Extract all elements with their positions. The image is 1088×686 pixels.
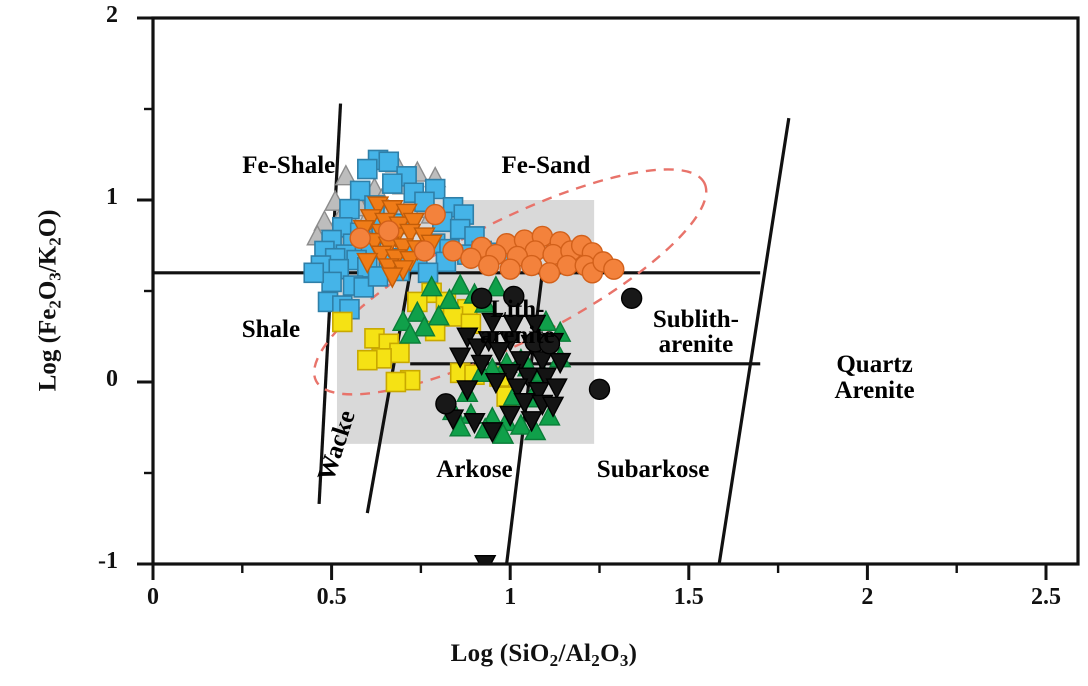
y-tick-label: 1 — [48, 184, 118, 211]
data-point — [443, 241, 463, 261]
data-point — [436, 394, 456, 414]
chart-canvas: Log (SiO2/Al2O3) Log (Fe2O3/K2O) 00.511.… — [0, 0, 1088, 686]
data-point — [322, 272, 341, 291]
y-tick-label: 0 — [48, 366, 118, 393]
data-point — [419, 263, 438, 282]
y-tick-label: -1 — [48, 548, 118, 575]
data-point — [461, 248, 481, 268]
data-point — [386, 373, 405, 392]
data-point — [590, 379, 610, 399]
x-tick-label: 2.5 — [1006, 584, 1086, 611]
field-label-fe-sand: Fe-Sand — [416, 153, 676, 179]
data-point — [604, 259, 624, 279]
y-tick-label: 2 — [48, 2, 118, 29]
data-point — [557, 256, 577, 276]
data-point — [414, 241, 434, 261]
field-label-quartz-arenite: Quartz Arenite — [745, 352, 1005, 403]
data-point — [425, 205, 445, 225]
field-label-subarkose: Subarkose — [523, 457, 783, 483]
data-point — [500, 259, 520, 279]
data-point — [539, 263, 559, 283]
field-label-sublith-arenite: Sublith- arenite — [566, 307, 826, 358]
x-tick-label: 1.5 — [649, 584, 729, 611]
data-point — [340, 200, 359, 219]
data-point — [379, 221, 399, 241]
x-tick-label: 0.5 — [292, 584, 372, 611]
data-point — [350, 228, 370, 248]
data-point — [479, 256, 499, 276]
x-axis-title: Log (SiO2/Al2O3) — [0, 640, 1088, 671]
field-label-fe-shale: Fe-Shale — [159, 153, 419, 179]
x-tick-label: 0 — [113, 584, 193, 611]
x-tick-label: 1 — [470, 584, 550, 611]
data-point — [522, 256, 542, 276]
y-axis-title: Log (Fe2O3/K2O) — [35, 40, 66, 560]
data-point — [304, 263, 323, 282]
x-tick-label: 2 — [827, 584, 907, 611]
